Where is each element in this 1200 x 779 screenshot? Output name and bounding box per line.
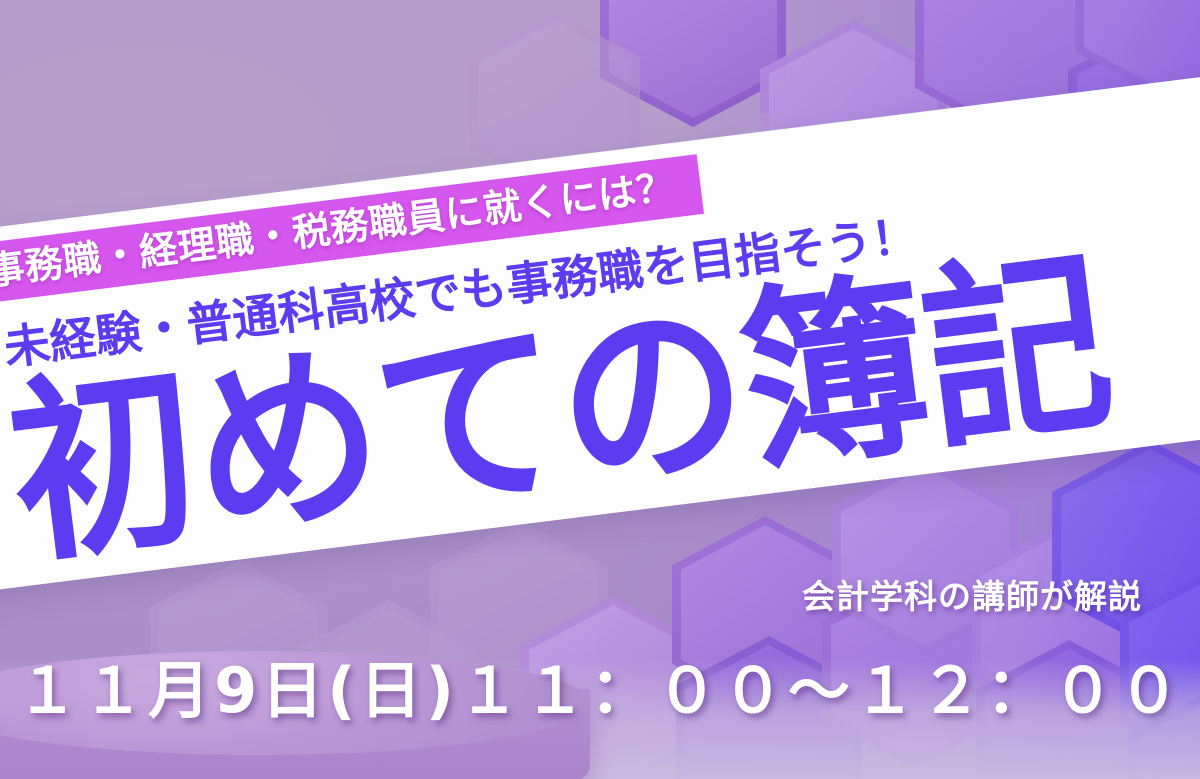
promo-poster: 事務職・経理職・税務職員に就くには？ 未経験・普通科高校でも事務職を目指そう！ …: [0, 0, 1200, 779]
event-datetime: １１月9日(日)１１：００～１２：００: [0, 640, 1200, 730]
speaker-note: 会計学科の講師が解説: [802, 570, 1142, 618]
